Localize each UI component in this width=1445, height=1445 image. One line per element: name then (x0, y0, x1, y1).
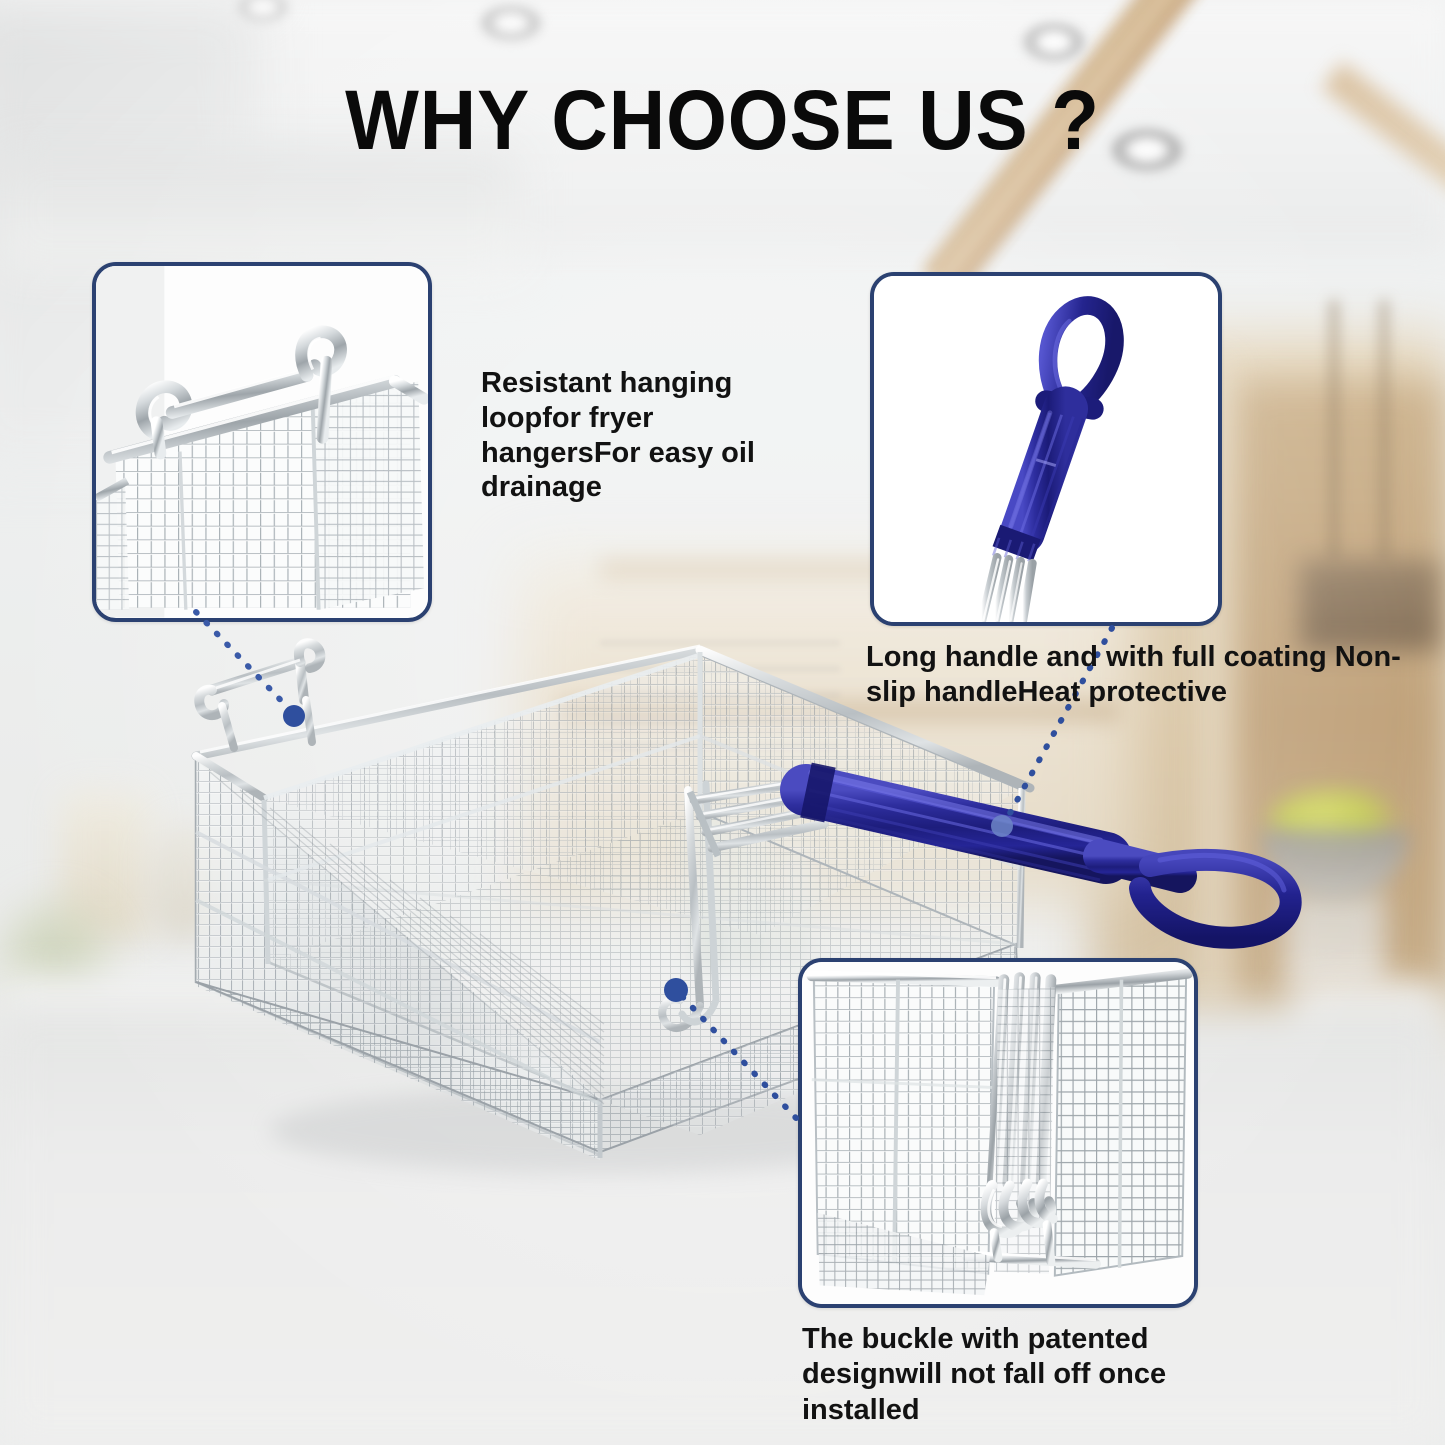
long-handle-closeup-image (874, 276, 1218, 622)
callout-text-long-handle: Long handle and with full coating Non-sl… (866, 640, 1406, 711)
callout-text-hanging-loop: Resistant hanging loopfor fryer hangersF… (481, 366, 781, 505)
callout-text-buckle: The buckle with patented designwill not … (802, 1322, 1222, 1428)
blurred-kitchen-background (0, 0, 1445, 1445)
callout-box-hanging-loop[interactable] (92, 262, 432, 622)
hanging-loop-closeup-image (96, 266, 428, 618)
page-title: WHY CHOOSE US ? (51, 72, 1395, 169)
callout-box-buckle[interactable] (798, 958, 1198, 1308)
buckle-closeup-image (802, 962, 1194, 1305)
background-vignette (0, 0, 1445, 1445)
callout-box-long-handle[interactable] (870, 272, 1222, 626)
